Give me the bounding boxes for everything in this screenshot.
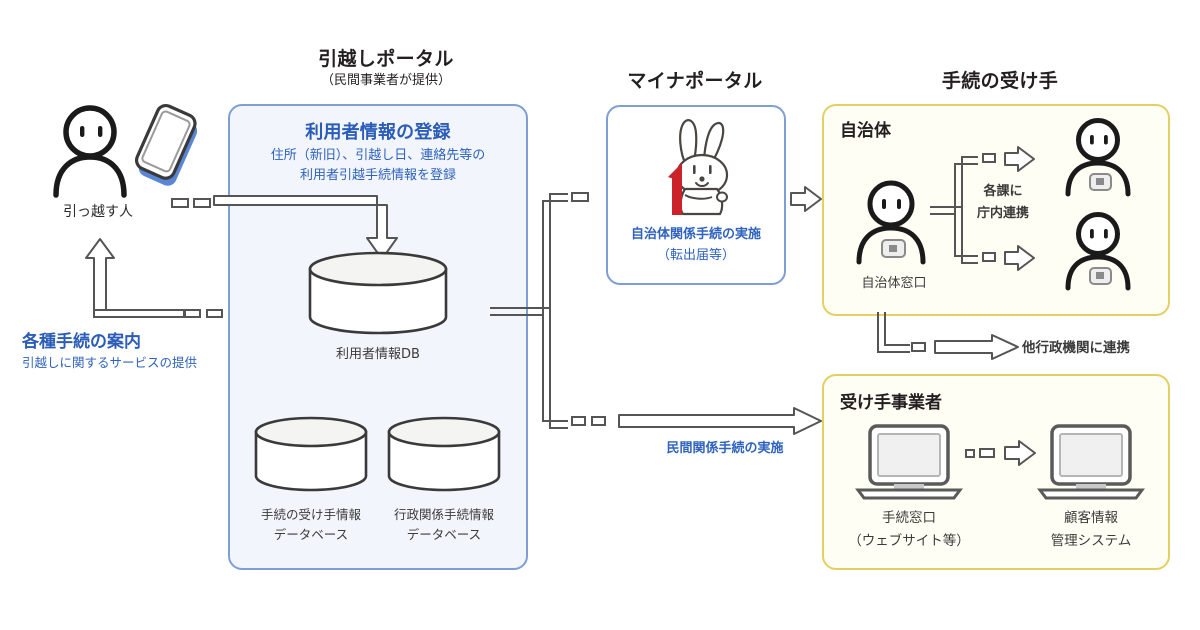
user-info-database-label: 利用者情報DB — [298, 345, 458, 365]
other-agencies-label: 他行政機関に連携 — [1022, 338, 1192, 358]
dash-segment-branch-top — [983, 152, 1003, 164]
recipient-info-database-label-line1: 手続の受け手情報 — [243, 506, 379, 525]
arrow-portal-to-business — [618, 406, 824, 436]
arrow-other-agencies — [934, 333, 1020, 361]
arrow-business-link — [1004, 440, 1038, 466]
arrow-to-person — [72, 228, 222, 318]
admin-procedure-database-label-line2: データベース — [376, 526, 512, 545]
arrow-myna-to-municipality — [790, 185, 824, 213]
service-subtext: 引越しに関するサービスの提供 — [22, 352, 197, 371]
dash-segments-return — [185, 308, 233, 320]
arrow-branch-bottom — [1004, 245, 1036, 271]
section-title-portal: 引越しポータル — [236, 44, 536, 71]
person-label: 引っ越す人 — [28, 202, 168, 223]
business-node-1-line1: 手続窓口 — [838, 508, 980, 528]
internal-coordination-line1: 各課に — [960, 182, 1046, 202]
municipality-panel-label: 自治体 — [840, 116, 891, 141]
smartphone-icon — [128, 103, 206, 195]
portal-body-line1: 住所（新旧）、引越し日、連絡先等の — [228, 147, 528, 166]
dash-segment-to-myna — [572, 190, 598, 204]
laptop-icon-crm — [1036, 424, 1146, 502]
portal-branch-connector — [490, 186, 610, 436]
section-title-recipients: 手続の受け手 — [860, 66, 1140, 93]
municipality-counter-label: 自治体窓口 — [828, 274, 960, 294]
myna-caption-line1: 自治体関係手続の実施 — [606, 226, 786, 245]
section-title-myna: マイナポータル — [575, 66, 815, 93]
other-agencies-elbow — [876, 312, 916, 356]
staff-person-icon-dept-2 — [1060, 212, 1140, 290]
rabbit-mascot-icon — [652, 115, 744, 217]
dash-segment-other-agencies — [912, 340, 932, 354]
portal-body-line2: 利用者引越手続情報を登録 — [228, 167, 528, 186]
dash-segment-branch-bottom — [983, 251, 1003, 263]
internal-coordination-line2: 庁内連携 — [960, 204, 1046, 224]
section-subtitle-portal: （民間事業者が提供） — [236, 69, 536, 88]
staff-person-icon-counter — [850, 180, 936, 264]
service-heading: 各種手続の案内 — [22, 327, 141, 352]
laptop-icon-window — [854, 424, 964, 502]
business-node-1-line2: （ウェブサイト等） — [838, 531, 980, 551]
business-node-2-line1: 顧客情報 — [1020, 508, 1162, 528]
dash-segments-to-business — [572, 414, 614, 428]
admin-procedure-database-label-line1: 行政関係手続情報 — [376, 506, 512, 525]
staff-person-icon-dept-1 — [1060, 118, 1140, 196]
arrow-branch-top — [1004, 146, 1036, 172]
portal-heading: 利用者情報の登録 — [228, 118, 528, 144]
business-node-2-line2: 管理システム — [1020, 531, 1162, 551]
myna-caption-line2: （転出届等） — [606, 247, 786, 266]
recipient-info-database-label-line2: データベース — [243, 526, 379, 545]
private-procedures-label: 民間関係手続の実施 — [600, 440, 850, 459]
diagram-canvas: 引越しポータル （民間事業者が提供） マイナポータル 手続の受け手 引っ越す人 — [0, 0, 1200, 630]
dash-segments-business-link — [966, 446, 1002, 460]
user-info-database-icon — [305, 253, 451, 339]
admin-procedure-database-icon — [385, 418, 503, 496]
recipient-info-database-icon — [252, 418, 370, 496]
business-panel-label: 受け手事業者 — [840, 388, 942, 413]
